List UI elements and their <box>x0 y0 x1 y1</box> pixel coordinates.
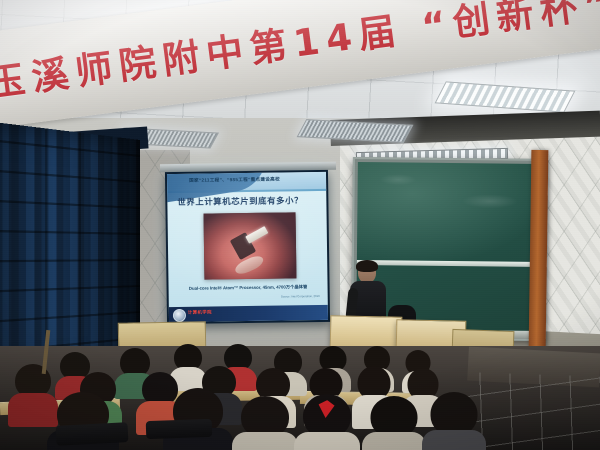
student-body <box>422 430 486 450</box>
slide-caption: Dual-core Intel® Atom™ Processor, 45nm, … <box>175 284 322 292</box>
presentation-slide: 国家“211工程”、“985工程”重点建设高校 世界上计算机芯片到底有多小？ D… <box>167 172 328 322</box>
university-emblem-icon <box>173 309 186 322</box>
student <box>428 392 480 450</box>
slide-footer-text: 计算机学院 <box>188 310 212 316</box>
student-body <box>232 432 298 450</box>
chip-photograph <box>204 212 297 279</box>
student-body <box>294 432 360 450</box>
student <box>12 364 54 408</box>
slide-title: 世界上计算机芯片到底有多小？ <box>177 194 320 208</box>
student-body <box>362 432 426 450</box>
slide-source-note: Source: Intel Corporation, 2010 <box>281 294 320 299</box>
projection-screen[interactable]: 国家“211工程”、“985工程”重点建设高校 世界上计算机芯片到底有多小？ D… <box>165 170 330 324</box>
classroom-photo: 玉溪师院附中第14届 “创新杯” 教学竞 国家“211工程”、“985工程”重点… <box>0 0 600 450</box>
student-body <box>8 393 58 427</box>
school-bag <box>56 422 129 446</box>
slide-footer-bar: 计算机学院 <box>169 305 328 322</box>
wooden-pillar <box>529 150 549 350</box>
presenter-hair <box>356 260 378 272</box>
student <box>368 396 420 450</box>
school-bag <box>146 419 213 439</box>
student <box>238 396 292 450</box>
silicon-chip-icon <box>245 226 268 244</box>
